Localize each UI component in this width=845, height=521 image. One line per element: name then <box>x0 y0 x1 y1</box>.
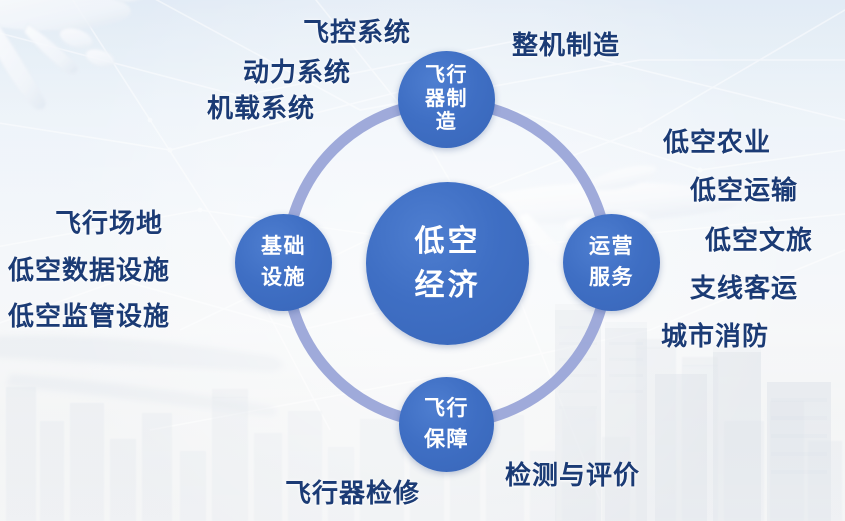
node-right-line-1: 运营 <box>589 235 634 260</box>
label-complete-aircraft-manufacturing: 整机制造 <box>512 25 620 62</box>
node-center-line-1: 低空 <box>415 224 481 259</box>
label-flight-control-system: 飞控系统 <box>303 12 411 49</box>
node-top-line-3: 造 <box>436 111 458 135</box>
label-low-altitude-tourism: 低空文旅 <box>705 220 813 257</box>
node-top-line-2: 器制 <box>425 88 468 112</box>
node-low-altitude-economy[interactable]: 低空 经济 <box>366 182 529 345</box>
low-altitude-economy-diagram: 低空 经济 飞行 器制 造 基础 设施 运营 服务 飞行 保障 飞控系统 动力系… <box>0 0 845 521</box>
label-flight-site: 飞行场地 <box>55 203 163 240</box>
node-center-line-2: 经济 <box>415 268 481 303</box>
node-aircraft-manufacturing[interactable]: 飞行 器制 造 <box>398 51 495 148</box>
node-infrastructure[interactable]: 基础 设施 <box>235 214 332 311</box>
node-right-line-2: 服务 <box>589 266 634 291</box>
label-low-altitude-regulatory-facility: 低空监管设施 <box>8 296 170 333</box>
label-airborne-system: 机载系统 <box>207 88 315 125</box>
node-bottom-line-2: 保障 <box>424 428 469 453</box>
label-power-system: 动力系统 <box>243 52 351 89</box>
label-aircraft-maintenance: 飞行器检修 <box>285 473 420 510</box>
label-low-altitude-transport: 低空运输 <box>690 170 798 207</box>
label-regional-passenger-transport: 支线客运 <box>690 268 798 305</box>
airplane-graphic-top-left <box>0 0 208 141</box>
node-operation-services[interactable]: 运营 服务 <box>563 214 660 311</box>
node-flight-assurance[interactable]: 飞行 保障 <box>399 377 494 472</box>
node-top-line-1: 飞行 <box>425 64 468 88</box>
node-left-line-1: 基础 <box>261 235 306 260</box>
label-urban-firefighting: 城市消防 <box>661 316 769 353</box>
label-testing-and-evaluation: 检测与评价 <box>505 455 640 492</box>
node-bottom-line-1: 飞行 <box>424 397 469 422</box>
label-low-altitude-agriculture: 低空农业 <box>663 122 771 159</box>
label-low-altitude-data-facility: 低空数据设施 <box>8 250 170 287</box>
node-left-line-2: 设施 <box>261 266 306 291</box>
